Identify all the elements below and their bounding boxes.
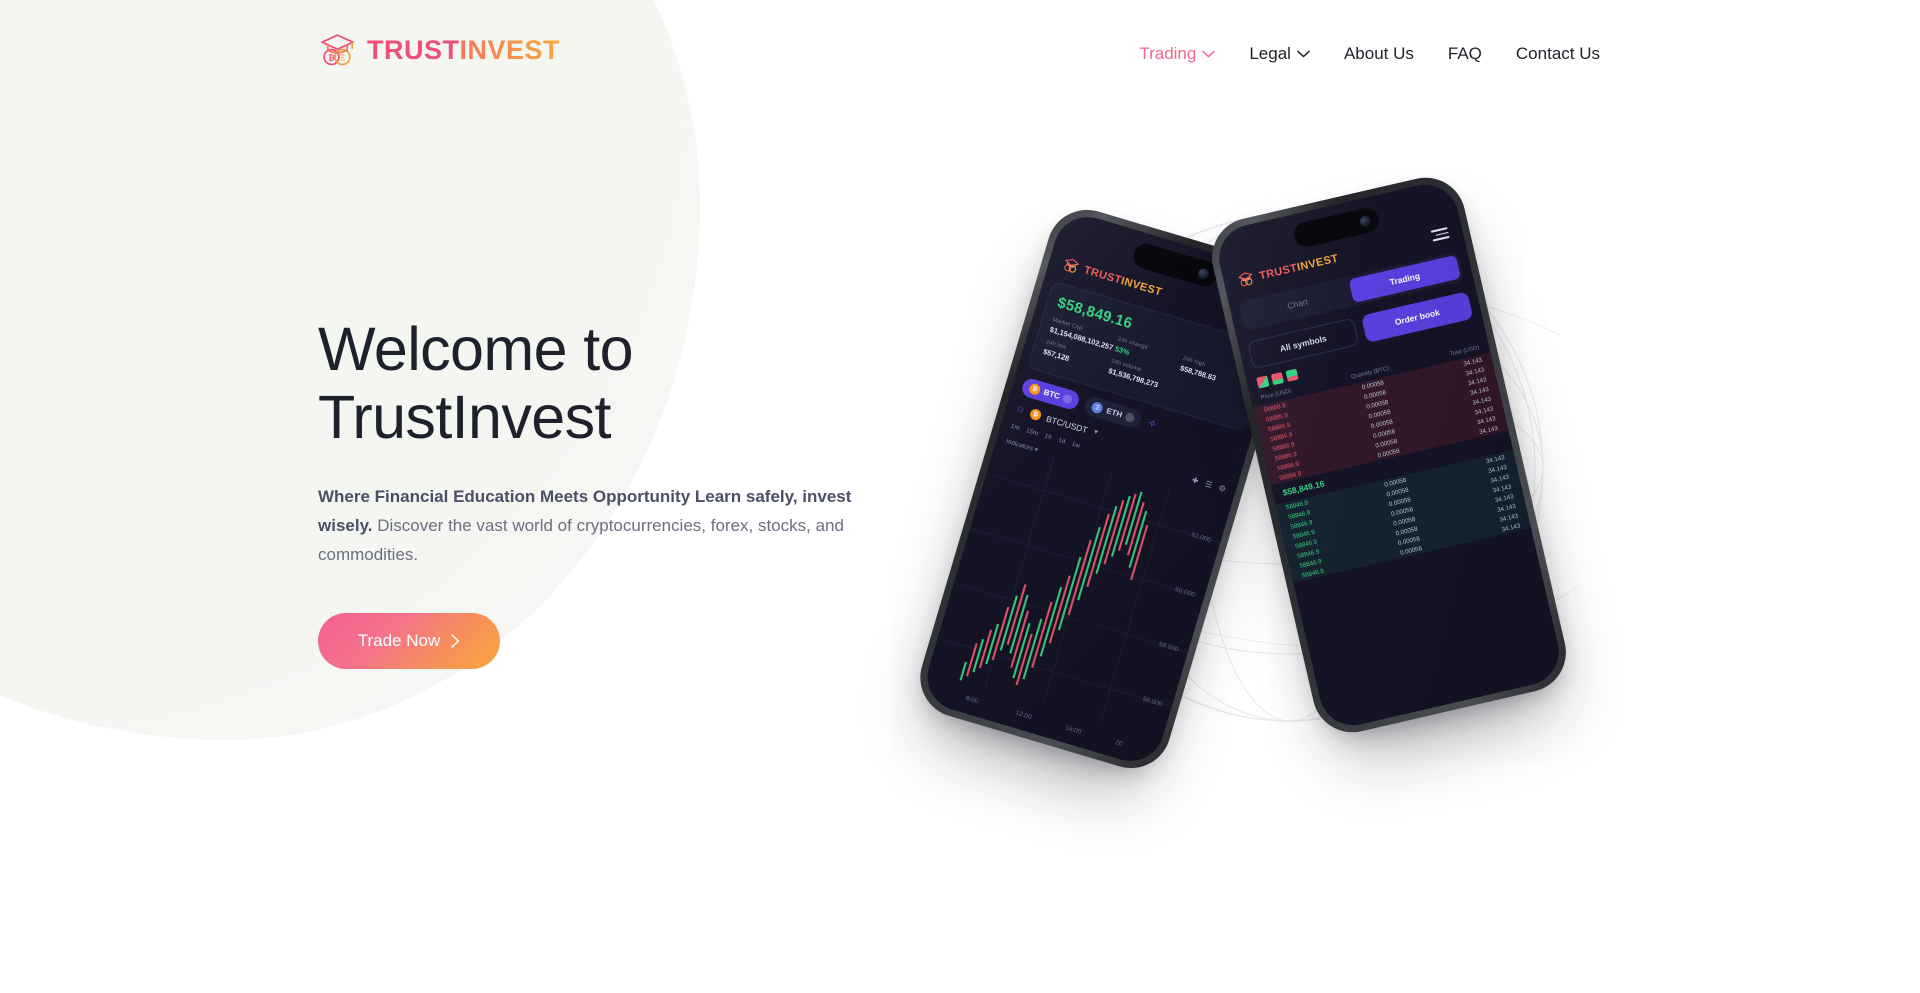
- ethereum-icon: Ξ: [1091, 401, 1105, 415]
- svg-text:16:00: 16:00: [1064, 724, 1082, 735]
- chip-badge-icon: [1125, 412, 1136, 423]
- nav-item-trading[interactable]: Trading: [1139, 44, 1215, 64]
- hero-subtitle-rest: Discover the vast world of cryptocurrenc…: [318, 516, 844, 564]
- site-header: ₿ Ξ TRUSTINVEST Trading Legal: [0, 0, 1920, 94]
- chevron-down-icon[interactable]: ▼: [1092, 429, 1099, 436]
- svg-text:62,000: 62,000: [1190, 532, 1212, 544]
- svg-text:8:00: 8:00: [965, 695, 980, 705]
- svg-text:60,000: 60,000: [1174, 586, 1196, 598]
- nav-item-legal-label: Legal: [1249, 44, 1291, 64]
- landing-page: ₿ Ξ TRUSTINVEST Trading Legal: [0, 0, 1920, 993]
- coin-chip-btc-label: BTC: [1043, 388, 1061, 401]
- page-title-line2: TrustInvest: [318, 383, 611, 451]
- nav-item-faq-label: FAQ: [1448, 44, 1482, 64]
- brand-logo[interactable]: ₿ Ξ TRUSTINVEST: [318, 30, 560, 70]
- nav-item-faq[interactable]: FAQ: [1448, 44, 1482, 64]
- chevron-down-icon: [1297, 50, 1310, 58]
- nav-item-trading-label: Trading: [1139, 44, 1196, 64]
- coin-chip-eth-label: ETH: [1105, 406, 1123, 419]
- chevron-right-icon: [451, 634, 460, 648]
- trade-now-label: Trade Now: [358, 631, 441, 651]
- hero-subtitle: Where Financial Education Meets Opportun…: [318, 482, 873, 570]
- brand-name-invest: INVEST: [460, 35, 561, 65]
- nav-item-contact-us[interactable]: Contact Us: [1516, 44, 1600, 64]
- phone-orderbook-app-name-invest: INVEST: [1296, 252, 1340, 273]
- svg-text:₿: ₿: [328, 52, 335, 62]
- settings-icon[interactable]: ⚙: [1217, 483, 1226, 494]
- phone-orderbook-screen: TRUSTINVEST Chart Trading All symbols Or…: [1213, 178, 1566, 732]
- svg-text:58,000: 58,000: [1158, 641, 1180, 653]
- nav-item-about-us-label: About Us: [1344, 44, 1414, 64]
- nav-item-contact-us-label: Contact Us: [1516, 44, 1600, 64]
- brand-name-trust: TRUST: [367, 35, 460, 65]
- page-title: Welcome to TrustInvest: [318, 315, 898, 452]
- sparkle-icon: ✧: [1146, 417, 1159, 432]
- page-title-line1: Welcome to: [318, 315, 633, 383]
- graduation-cap-coins-icon: ₿ Ξ: [318, 30, 358, 70]
- hero-section: Welcome to TrustInvest Where Financial E…: [318, 315, 898, 669]
- phone-orderbook-app-name: TRUSTINVEST: [1258, 252, 1339, 282]
- nav-item-about-us[interactable]: About Us: [1344, 44, 1414, 64]
- phone-chart-app-name-invest: INVEST: [1120, 275, 1164, 298]
- main-navigation: Trading Legal About Us FAQ Contact Us: [1139, 44, 1600, 64]
- phone-chart-app-name-trust: TRUST: [1083, 264, 1123, 286]
- svg-text:Ξ: Ξ: [340, 52, 346, 62]
- svg-text:56,000: 56,000: [1142, 696, 1164, 708]
- hero-visual: TRUSTINVEST $58,849.16 Market Cap $1,154…: [960, 130, 1620, 810]
- nav-item-legal[interactable]: Legal: [1249, 44, 1310, 64]
- graduation-cap-coins-icon: [1061, 255, 1082, 276]
- chevron-down-icon: [1202, 50, 1215, 58]
- candlestick-icon[interactable]: ☰: [1204, 479, 1213, 490]
- phone-mockup-orderbook: TRUSTINVEST Chart Trading All symbols Or…: [1204, 170, 1574, 741]
- hamburger-icon[interactable]: [1431, 227, 1450, 241]
- graduation-cap-coins-icon: [1236, 269, 1256, 289]
- svg-text:12:00: 12:00: [1015, 710, 1033, 721]
- crosshair-icon[interactable]: ✚: [1191, 475, 1200, 486]
- phone-orderbook-app-name-trust: TRUST: [1258, 262, 1298, 282]
- phone-mockups: TRUSTINVEST $58,849.16 Market Cap $1,154…: [960, 130, 1620, 810]
- brand-name: TRUSTINVEST: [367, 37, 560, 64]
- trade-now-button[interactable]: Trade Now: [318, 613, 500, 669]
- star-icon[interactable]: ☆: [1014, 403, 1026, 416]
- chip-badge-icon: [1062, 394, 1073, 405]
- svg-text:20: 20: [1114, 739, 1123, 748]
- bitcoin-icon: ₿: [1028, 382, 1042, 396]
